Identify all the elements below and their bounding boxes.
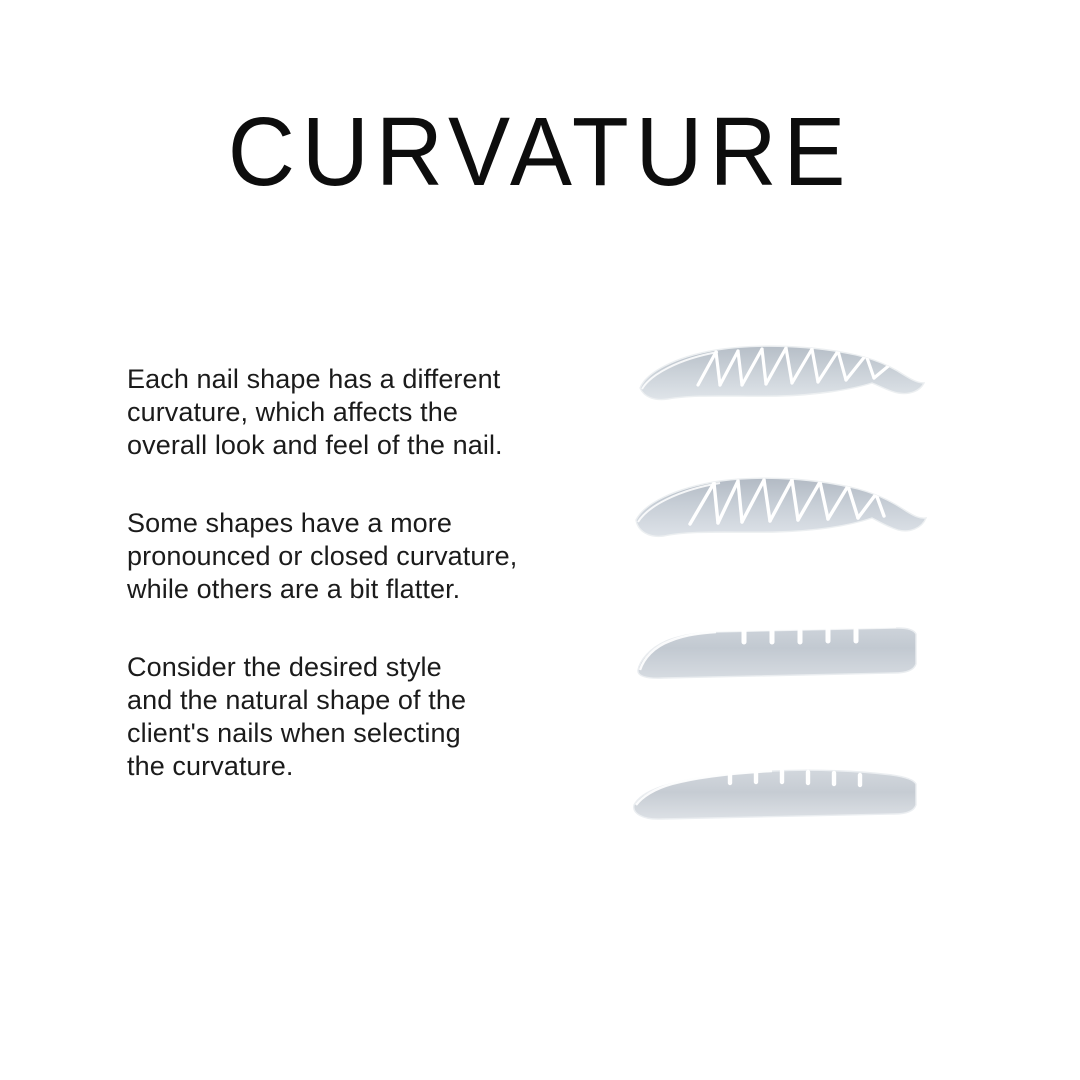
paragraph-1: Each nail shape has a different curvatur… [127, 363, 597, 462]
nail-tip-4-tapered-curvature [620, 753, 940, 833]
body-copy-column: Each nail shape has a different curvatur… [127, 363, 597, 783]
nail-tip-1-deep-curvature [620, 333, 940, 413]
nail-tip-3-flat-curvature [620, 608, 940, 688]
nail-tip-2-deep-curvature [620, 468, 940, 548]
nail-tip-illustration-group [620, 325, 950, 835]
page-title: CURVATURE [22, 103, 1059, 200]
slide-canvas: CURVATURE Each nail shape has a differen… [0, 0, 1080, 1080]
paragraph-3: Consider the desired style and the natur… [127, 651, 597, 783]
paragraph-2: Some shapes have a more pronounced or cl… [127, 507, 597, 606]
